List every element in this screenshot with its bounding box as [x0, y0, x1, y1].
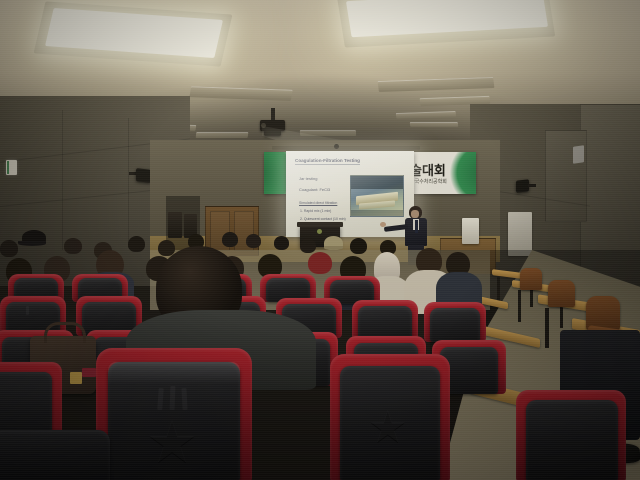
audience-head [300, 238, 316, 253]
seat-emboss-tick [181, 388, 187, 410]
emergency-sign [6, 160, 17, 175]
slide-line-0: Jar testing [299, 176, 317, 181]
slide-line-4: 2. Quiescent contact (10 min) [300, 217, 346, 221]
black-cap-brim [18, 241, 46, 246]
presenter-tie [415, 220, 418, 233]
slide-line-1: Coagulant: FeCl3 [299, 187, 330, 192]
handbag-handle [44, 322, 86, 343]
seat-shell [526, 400, 618, 480]
seat-shell: ★ [340, 366, 440, 480]
podium-white-box [462, 218, 479, 244]
lecture-hall-photo: 술대회 한국수처리공학회 Coagulation-Filtration Test… [0, 0, 640, 480]
seat-emboss-tick [170, 386, 176, 410]
wall-speaker-left [136, 168, 151, 183]
seat-highlight [108, 362, 240, 384]
screen-rail [272, 146, 420, 150]
audience-head [0, 240, 18, 257]
seat-star-emboss: ★ [146, 414, 198, 472]
audience-head [274, 236, 289, 250]
seat-emboss-tick [157, 388, 164, 410]
projector-lens [261, 123, 266, 128]
seat-star-emboss: ★ [368, 406, 407, 450]
audience-head [128, 236, 145, 252]
audience-head [246, 234, 261, 248]
screen-mount [334, 144, 339, 149]
slide-line-3: 1. Rapid mix (1 min) [300, 209, 331, 213]
presenter-face [411, 210, 419, 218]
banner-subtitle: 한국수처리공학회 [410, 178, 447, 185]
presenter-hand [380, 222, 386, 227]
seat-emboss-tick [26, 306, 29, 315]
audience-head [222, 232, 238, 247]
slide-title: Coagulation-Filtration Testing [295, 158, 360, 165]
audience-head [308, 252, 332, 274]
photo-shadow [351, 176, 403, 189]
lectern-emblem [317, 229, 322, 234]
audience-head [64, 238, 82, 254]
audience-head [350, 238, 367, 254]
av-equipment [168, 212, 182, 238]
slide-line-2: Simulated direct filtration [299, 201, 337, 205]
khaki-cap-brim [324, 246, 343, 250]
lectern-top [297, 222, 343, 227]
banner-title: 술대회 [410, 160, 446, 179]
projector-base [264, 130, 281, 136]
seat-shell [0, 430, 110, 480]
seat-shell: ★ [108, 362, 240, 480]
